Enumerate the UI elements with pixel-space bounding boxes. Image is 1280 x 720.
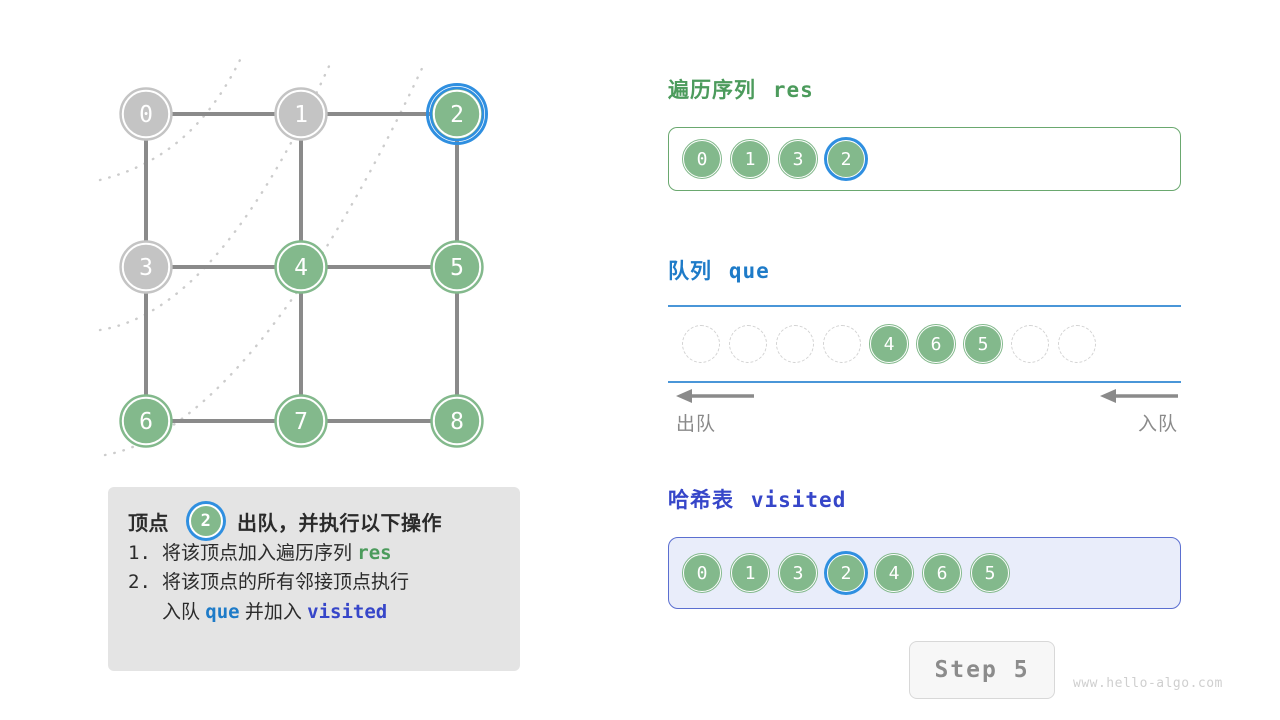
graph-node-label: 3 [139,255,153,281]
graph-node-label: 0 [139,102,153,128]
graph-node-label: 2 [450,102,464,128]
caption-line-number: 1. [128,539,162,568]
graph-node-5[interactable]: 5 [431,241,483,293]
visited-title-code: visited [751,488,847,512]
res-item: 0 [683,140,721,178]
enqueue-arrow-icon [1100,385,1180,407]
res-item: 2 [827,140,865,178]
queue-slot-filled: 4 [870,325,908,363]
queue-container: 465 [668,305,1181,385]
caption-line: 1.将该顶点加入遍历序列 res [128,539,500,568]
graph-node-6[interactable]: 6 [120,395,172,447]
visited-item: 5 [971,554,1009,592]
graph-node-label: 5 [450,255,464,281]
caption-text-fragment: res [357,542,391,564]
res-section-title: 遍历序列 res [668,74,814,104]
graph-node-label: 6 [139,409,153,435]
graph-node-7[interactable]: 7 [275,395,327,447]
graph-panel: 012345678 [0,0,560,480]
queue-direction-labels: 出队 入队 [668,385,1181,445]
visited-item: 3 [779,554,817,592]
graph-node-4[interactable]: 4 [275,241,327,293]
caption-line-text: 将该顶点加入遍历序列 res [162,539,500,568]
que-title-cn: 队列 [668,260,712,283]
caption-node-chip: 2 [189,504,223,538]
caption-text-fragment: 并加入 [240,602,308,623]
caption-line-list: 1.将该顶点加入遍历序列 res2.将该顶点的所有邻接顶点执行入队 que 并加… [128,539,500,627]
res-item: 3 [779,140,817,178]
caption-line: 入队 que 并加入 visited [128,598,500,627]
dequeue-arrow-icon [676,385,756,407]
graph-node-label: 1 [294,102,308,128]
que-section-title: 队列 que [668,255,770,285]
state-panel: 遍历序列 res 0132 队列 que 465 出队 [665,0,1225,720]
visited-item: 4 [875,554,913,592]
caption-line-text: 入队 que 并加入 visited [162,598,500,627]
visited-item: 2 [827,554,865,592]
caption-suffix: 出队，并执行以下操作 [237,507,442,536]
res-title-code: res [773,78,814,102]
queue-top-rail [668,305,1181,307]
caption-text-fragment: que [205,601,239,623]
enqueue-label: 入队 [1138,409,1178,436]
visited-section-title: 哈希表 visited [668,484,846,514]
caption-line: 2.将该顶点的所有邻接顶点执行 [128,568,500,597]
caption-box: 顶点 2 出队，并执行以下操作 1.将该顶点加入遍历序列 res2.将该顶点的所… [108,487,520,671]
queue-slot-empty [682,325,720,363]
caption-prefix: 顶点 [128,507,169,536]
queue-slot-empty [1058,325,1096,363]
queue-slot-empty [776,325,814,363]
caption-text-fragment: 将该顶点加入遍历序列 [162,543,357,564]
res-title-cn: 遍历序列 [668,79,756,102]
graph-node-label: 7 [294,409,308,435]
visited-item: 0 [683,554,721,592]
queue-bottom-rail [668,381,1181,383]
caption-line-text: 将该顶点的所有邻接顶点执行 [162,568,500,597]
graph-node-label: 4 [294,255,308,281]
caption-headline: 顶点 2 出队，并执行以下操作 [128,503,500,539]
visited-title-cn: 哈希表 [668,489,734,512]
caption-text-fragment: 入队 [162,602,205,623]
graph-node-1[interactable]: 1 [275,88,327,140]
graph-node-3[interactable]: 3 [120,241,172,293]
queue-slot-empty [1011,325,1049,363]
dequeue-label: 出队 [676,409,716,436]
visited-item: 6 [923,554,961,592]
watermark: www.hello-algo.com [1073,676,1223,691]
queue-slot-empty [729,325,767,363]
graph-node-2[interactable]: 2 [428,85,487,144]
step-badge: Step 5 [909,641,1055,699]
visited-item: 1 [731,554,769,592]
visited-container: 0132465 [668,537,1181,609]
caption-text-fragment: visited [307,601,387,623]
queue-slot-filled: 5 [964,325,1002,363]
graph-node-8[interactable]: 8 [431,395,483,447]
res-container: 0132 [668,127,1181,191]
graph-svg: 012345678 [0,0,560,480]
caption-line-number: 2. [128,568,162,597]
que-title-code: que [729,259,770,283]
queue-slot-list: 465 [682,315,1096,373]
graph-node-label: 8 [450,409,464,435]
caption-text-fragment: 将该顶点的所有邻接顶点执行 [162,572,409,593]
queue-slot-empty [823,325,861,363]
diagram-canvas: 012345678 顶点 2 出队，并执行以下操作 1.将该顶点加入遍历序列 r… [0,0,1280,720]
graph-node-0[interactable]: 0 [120,88,172,140]
queue-slot-filled: 6 [917,325,955,363]
res-item: 1 [731,140,769,178]
